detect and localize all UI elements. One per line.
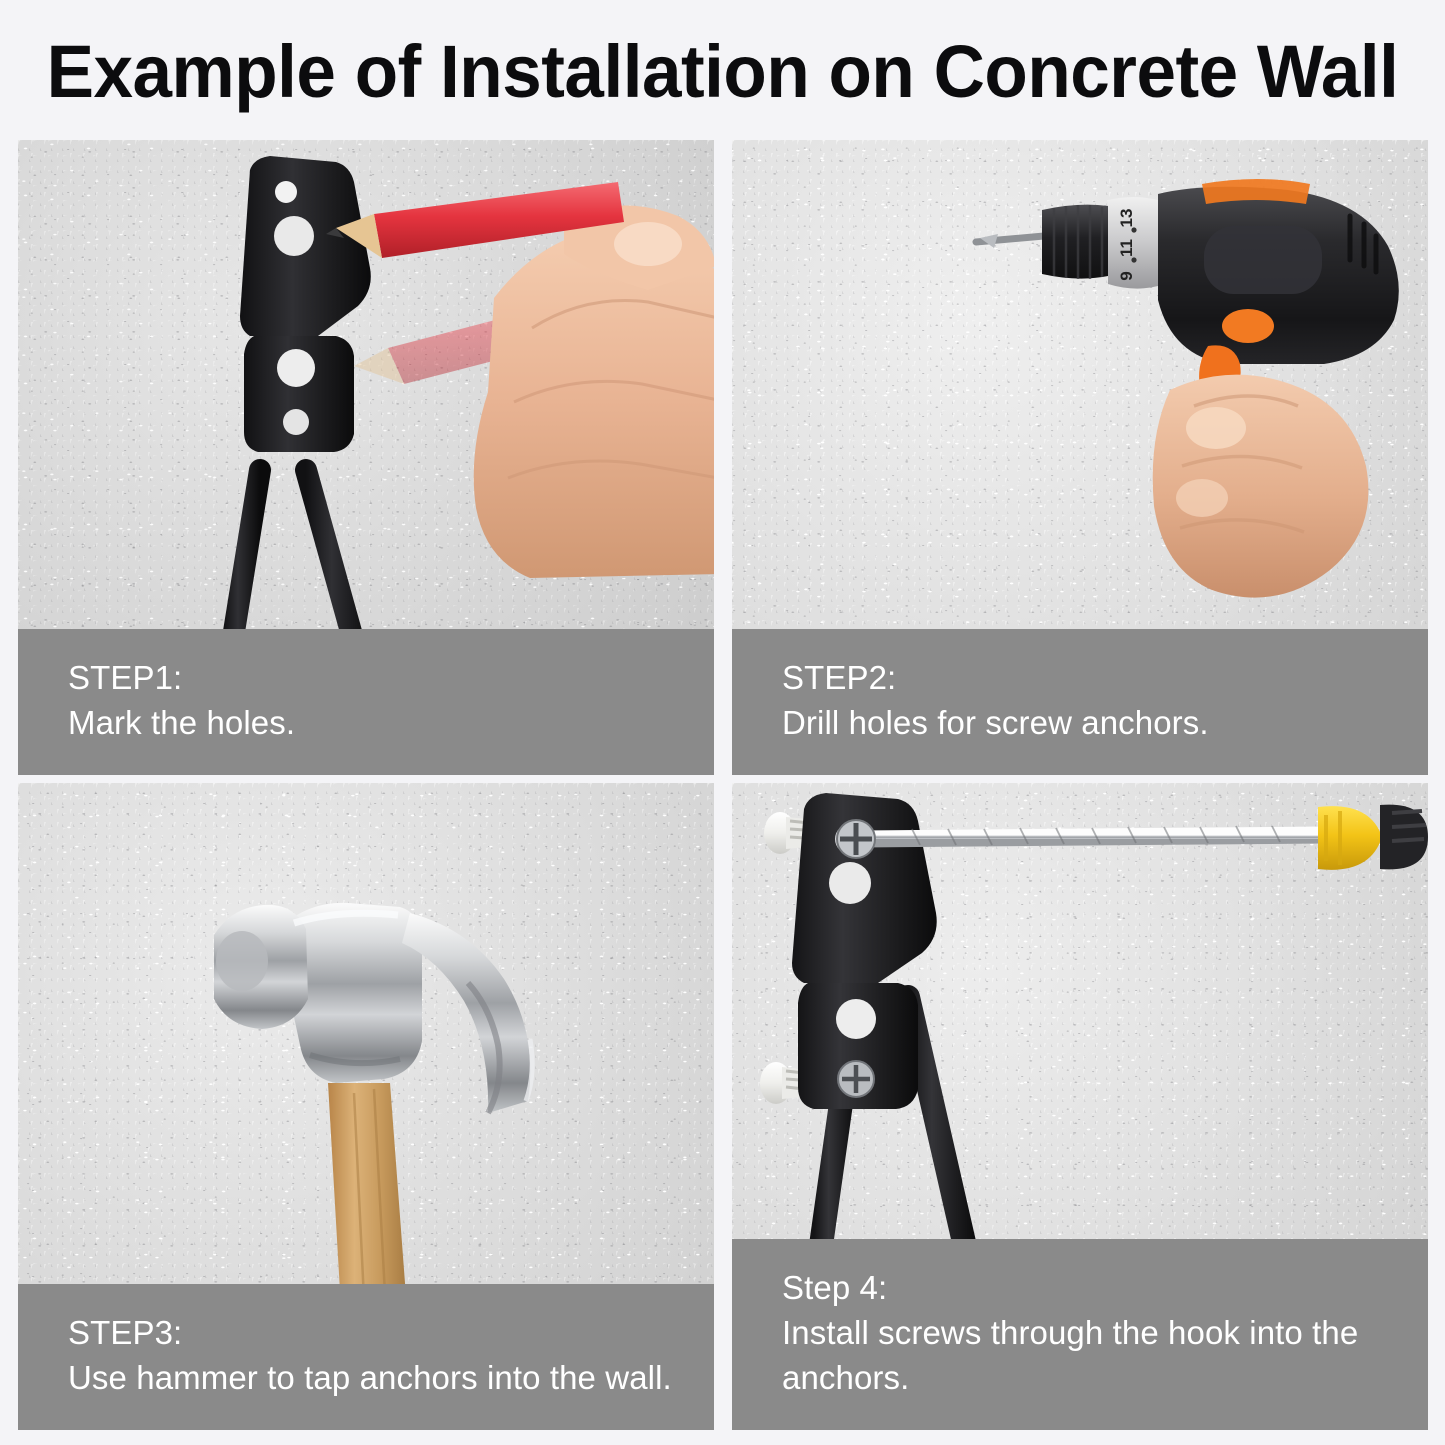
step-text: Use hammer to tap anchors into the wall. — [68, 1355, 680, 1400]
step-panel-3: STEP3: Use hammer to tap anchors into th… — [18, 783, 714, 1430]
cordless-drill-icon: 13 11 9 — [958, 150, 1428, 630]
step-label: Step 4: — [782, 1265, 1394, 1310]
svg-text:9: 9 — [1117, 271, 1136, 280]
installation-guide-page: Example of Installation on Concrete Wall — [0, 0, 1445, 1445]
step-text: Install screws through the hook into the… — [782, 1310, 1394, 1400]
step-text: Drill holes for screw anchors. — [782, 700, 1394, 745]
step-caption-4: Step 4: Install screws through the hook … — [732, 1239, 1428, 1430]
phillips-screw-lower — [838, 1061, 874, 1097]
step-caption-2: STEP2: Drill holes for screw anchors. — [732, 629, 1428, 775]
step-panel-1: STEP1: Mark the holes. — [18, 140, 714, 775]
steps-grid: STEP1: Mark the holes. — [18, 140, 1428, 1430]
step-caption-1: STEP1: Mark the holes. — [18, 629, 714, 775]
screwdriver-handle — [1318, 805, 1428, 870]
step-label: STEP3: — [68, 1310, 680, 1355]
step-text: Mark the holes. — [68, 700, 680, 745]
drill-direction-switch — [1222, 309, 1274, 343]
svg-text:11: 11 — [1117, 239, 1136, 257]
pencil-wood — [336, 214, 382, 258]
step-label: STEP1: — [68, 655, 680, 700]
step-panel-2: 13 11 9 — [732, 140, 1428, 775]
carpenter-pencil-and-hand-icon — [318, 178, 714, 598]
svg-text:13: 13 — [1117, 209, 1136, 228]
page-title: Example of Installation on Concrete Wall — [29, 26, 1416, 118]
step-caption-3: STEP3: Use hammer to tap anchors into th… — [18, 1284, 714, 1430]
step-label: STEP2: — [782, 655, 1394, 700]
phillips-screw-upper — [837, 820, 875, 858]
step-panel-4: Step 4: Install screws through the hook … — [732, 783, 1428, 1430]
screwdriver-shaft — [860, 835, 1322, 839]
